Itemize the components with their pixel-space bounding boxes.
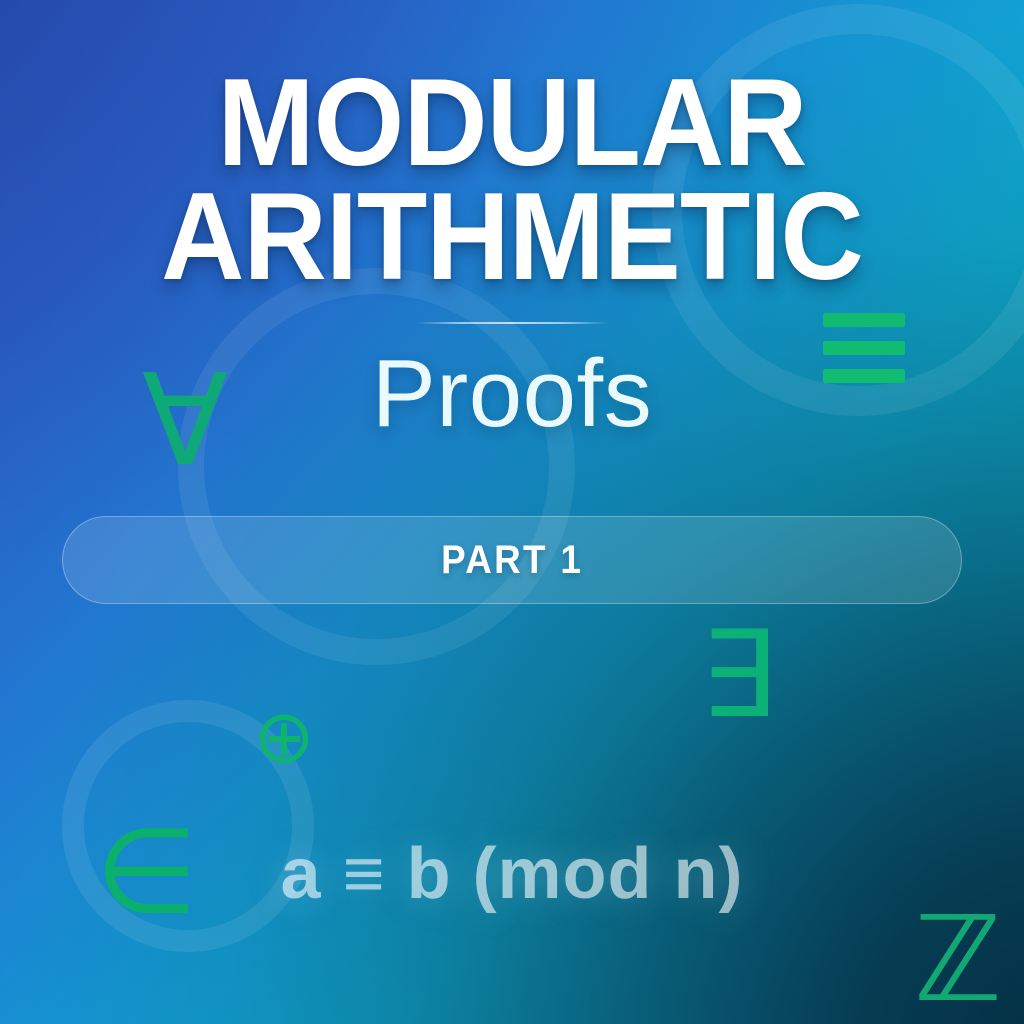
part-badge-label: PART 1 [441,538,583,583]
poster-canvas: ∀ ∃ ⊕ ∈ ℤ MODULAR ARITHMETIC Proofs PART… [0,0,1024,1024]
part-badge[interactable]: PART 1 [62,516,962,604]
title-line-secondary: ARITHMETIC [36,180,988,294]
subtitle: Proofs [372,344,652,445]
title-divider [416,322,608,324]
page-title: MODULAR ARITHMETIC [0,66,1024,294]
congruence-formula: a ≡ b (mod n) [0,833,1024,915]
title-line-primary: MODULAR [31,66,994,180]
